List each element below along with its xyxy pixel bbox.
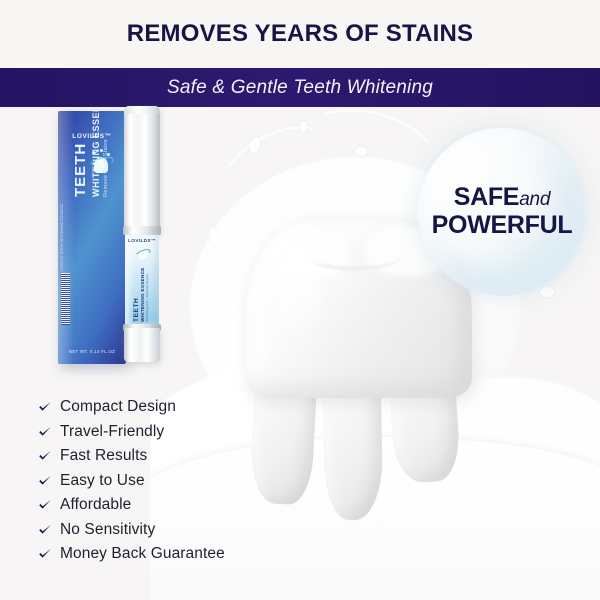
list-item-label: Compact Design	[60, 398, 176, 416]
check-icon	[38, 449, 52, 463]
barcode-icon	[61, 273, 70, 325]
splash-droplet	[540, 287, 554, 297]
badge-and-text: and	[519, 189, 550, 210]
check-icon	[38, 474, 52, 488]
splash-droplet	[355, 147, 367, 156]
list-item-label: Easy to Use	[60, 472, 145, 490]
tooth-root-middle	[323, 384, 383, 521]
list-item: Travel-Friendly	[38, 420, 225, 445]
pen-base	[124, 328, 160, 362]
feature-list: Compact Design Travel-Friendly Fast Resu…	[38, 395, 225, 567]
pen-body: LOVILDS™ TEETH WHITENING ESSENCE Whiteni…	[125, 234, 159, 330]
box-subtitle: WHITENING ESSENCE	[91, 111, 101, 197]
tooth-groove	[306, 240, 402, 270]
product-shot: LOVILDS™ TEETH WHITENING ESSENCE Remove …	[58, 106, 176, 366]
list-item: Money Back Guarantee	[38, 542, 225, 567]
check-icon	[38, 425, 52, 439]
check-icon	[38, 400, 52, 414]
check-icon	[38, 547, 52, 561]
pen-title: TEETH	[133, 266, 140, 322]
pen-cap-ring	[123, 226, 161, 235]
list-item: No Sensitivity	[38, 518, 225, 543]
list-item: Easy to Use	[38, 469, 225, 494]
pen-brand-label: LOVILDS™	[125, 238, 159, 243]
product-advertisement: REMOVES YEARS OF STAINS Safe & Gentle Te…	[0, 0, 600, 600]
tooth-swoosh-icon	[135, 247, 151, 260]
box-net-weight: NET WT. 0.14 FL.OZ	[58, 349, 126, 354]
tagline-band: Safe & Gentle Teeth Whitening	[0, 68, 600, 107]
tooth-highlight	[276, 246, 322, 342]
list-item-label: Fast Results	[60, 447, 147, 465]
list-item-label: Money Back Guarantee	[60, 545, 225, 563]
list-item-label: No Sensitivity	[60, 521, 155, 539]
pen-vertical-text: TEETH WHITENING ESSENCE Whitening Gel • …	[133, 266, 159, 322]
pen-cap	[124, 106, 160, 234]
list-item-label: Affordable	[60, 496, 131, 514]
page-title: REMOVES YEARS OF STAINS	[127, 20, 473, 48]
check-icon	[38, 498, 52, 512]
badge-first-line: SAFEand	[454, 185, 551, 211]
box-descriptor: Remove Teeth Stains	[103, 111, 109, 197]
product-pen: LOVILDS™ TEETH WHITENING ESSENCE Whiteni…	[122, 106, 162, 362]
pen-descriptor: Whitening Gel • Remove Stains	[145, 266, 149, 322]
tagline-text: Safe & Gentle Teeth Whitening	[167, 77, 433, 99]
list-item: Compact Design	[38, 395, 225, 420]
pen-cap-top	[124, 106, 160, 114]
box-vertical-text: TEETH WHITENING ESSENCE Remove Teeth Sta…	[72, 111, 112, 197]
splash-droplet	[300, 121, 307, 132]
headline-band: REMOVES YEARS OF STAINS	[0, 0, 600, 68]
product-box: LOVILDS™ TEETH WHITENING ESSENCE Remove …	[58, 111, 126, 364]
check-icon	[38, 523, 52, 537]
box-title: TEETH	[72, 111, 89, 197]
list-item: Fast Results	[38, 444, 225, 469]
list-item-label: Travel-Friendly	[60, 423, 164, 441]
badge-powerful-text: POWERFUL	[432, 211, 573, 240]
badge-safe-text: SAFE	[454, 183, 519, 211]
list-item: Affordable	[38, 493, 225, 518]
safe-and-powerful-badge: SAFEand POWERFUL	[418, 128, 586, 296]
box-side-code: LOVILDS TEETH WHITENING ESSENCE	[60, 231, 70, 271]
